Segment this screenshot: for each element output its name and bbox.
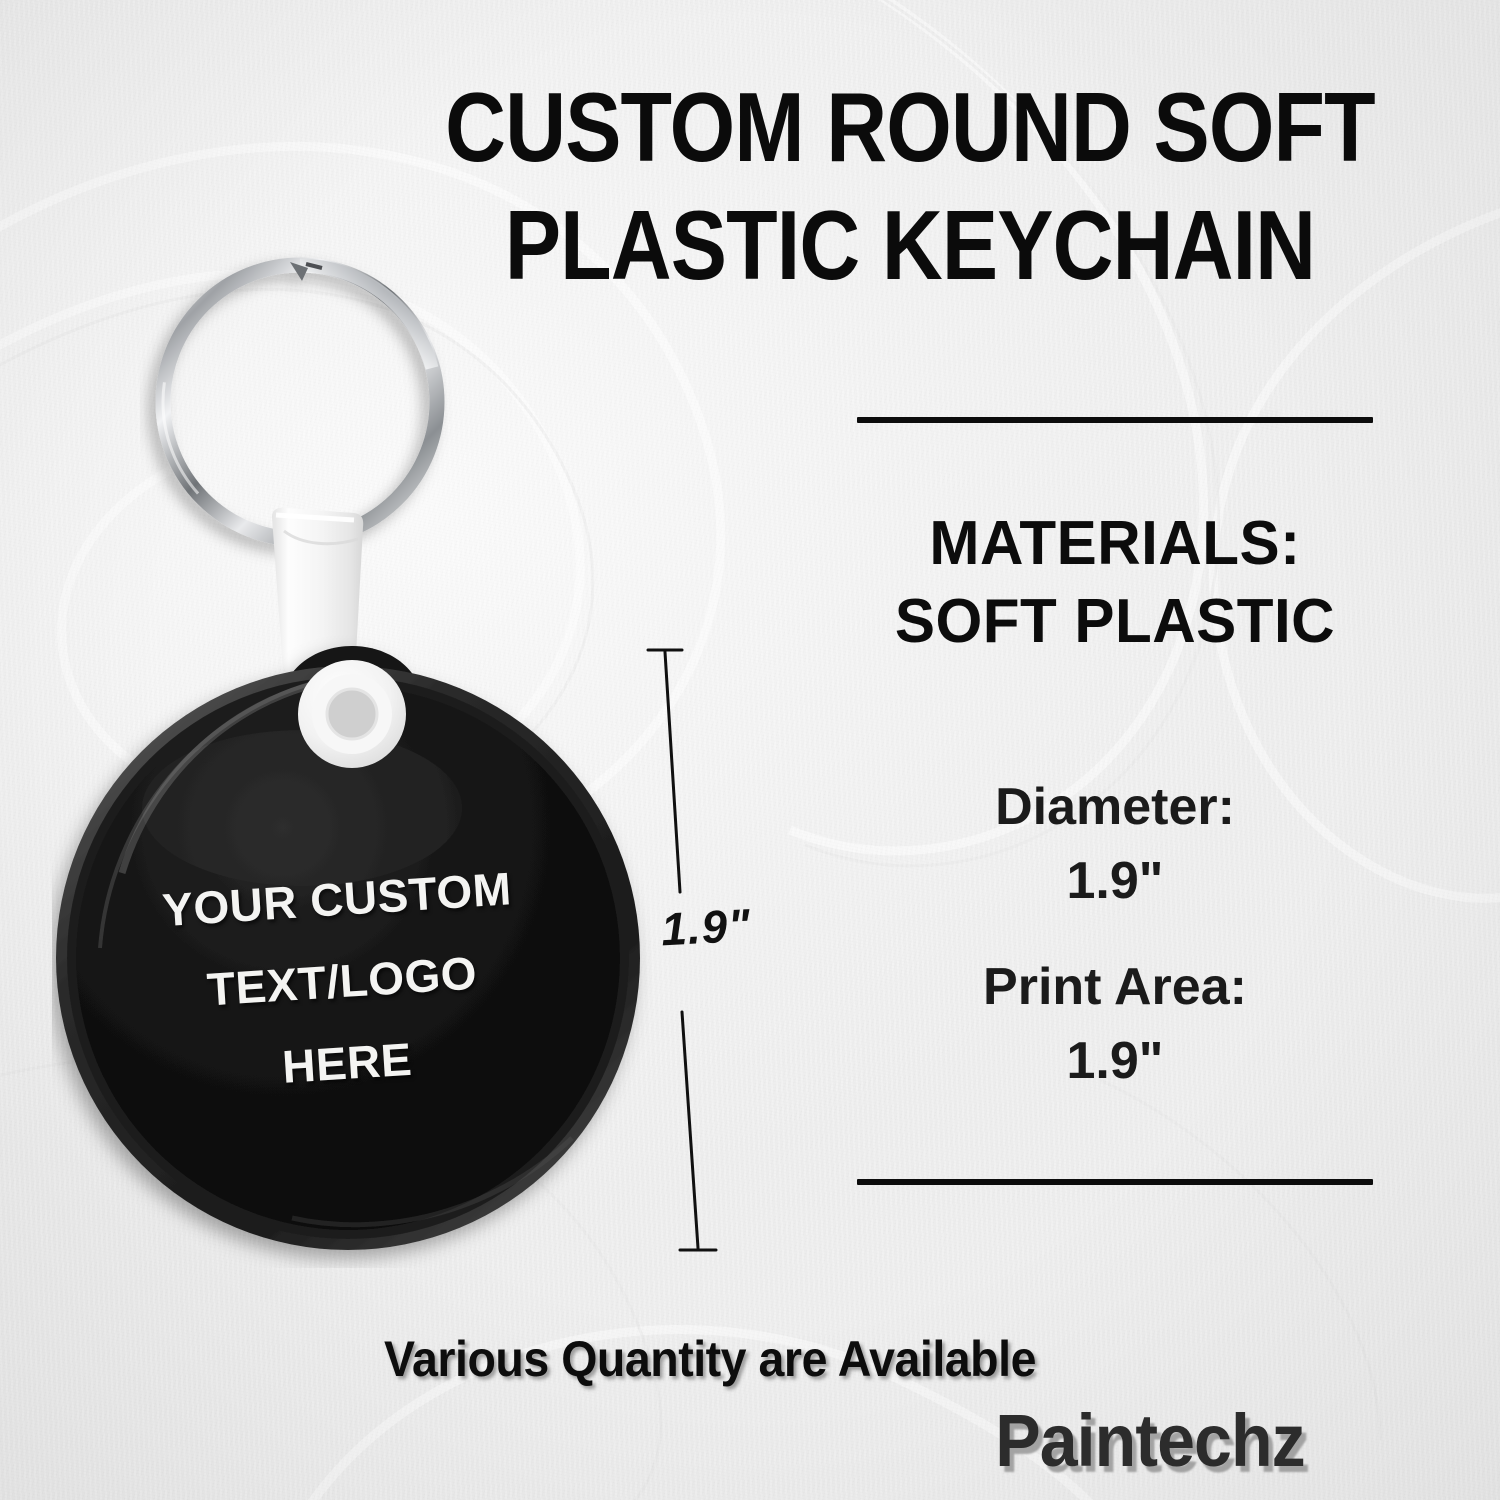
page-title: CUSTOM ROUND SOFT PLASTIC KEYCHAIN (411, 68, 1409, 304)
page-title-line-2: PLASTIC KEYCHAIN (411, 186, 1409, 304)
divider-top (857, 417, 1373, 423)
eyelet-grommet (298, 660, 406, 768)
page-title-line-1: CUSTOM ROUND SOFT (411, 68, 1409, 186)
brand-logo: Paintechz (902, 1398, 1399, 1483)
spec-diameter-label: Diameter: (835, 770, 1395, 844)
spec-diameter: Diameter: 1.9" (835, 770, 1395, 918)
quantity-note: Various Quantity are Available (217, 1330, 1203, 1388)
spec-print-area-label: Print Area: (835, 950, 1395, 1024)
product-infographic: CUSTOM ROUND SOFT PLASTIC KEYCHAIN MATER… (0, 0, 1500, 1500)
spec-diameter-value: 1.9" (835, 844, 1395, 918)
materials-heading: MATERIALS: (843, 505, 1386, 583)
spec-list: Diameter: 1.9" Print Area: 1.9" (835, 770, 1395, 1098)
dimension-label: 1.9" (635, 896, 778, 957)
spec-print-area-value: 1.9" (835, 1024, 1395, 1098)
divider-bottom (857, 1179, 1373, 1185)
tag-custom-text: YOUR CUSTOM TEXT/LOGO HERE (85, 843, 599, 1120)
materials-block: MATERIALS: SOFT PLASTIC (843, 505, 1386, 661)
spec-print-area: Print Area: 1.9" (835, 950, 1395, 1098)
materials-value: SOFT PLASTIC (843, 583, 1386, 661)
